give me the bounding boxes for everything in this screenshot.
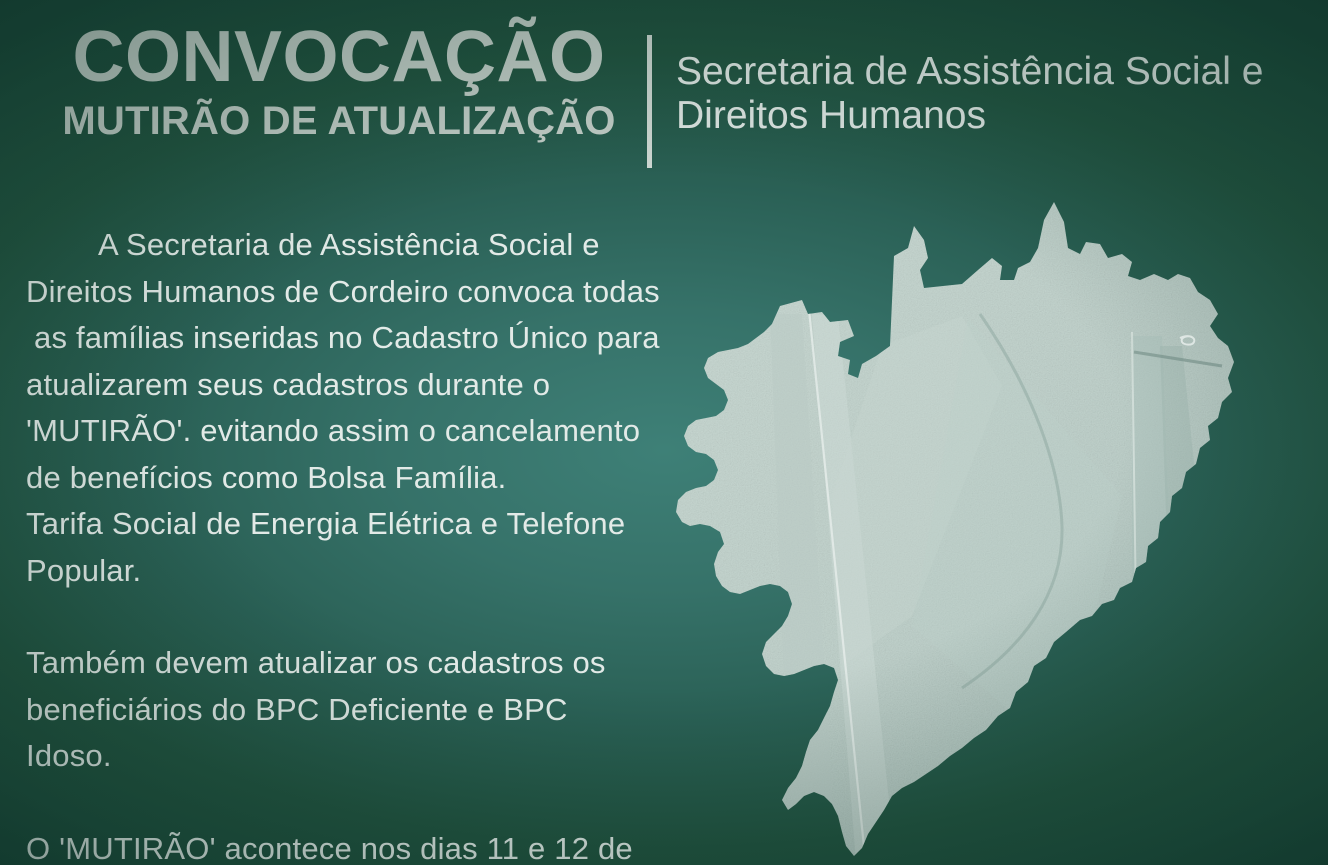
- paragraph-bpc: Também devem atualizar os cadastros os b…: [26, 640, 666, 780]
- poster-canvas: CONVOCAÇÃO MUTIRÃO DE ATUALIZAÇÃO Secret…: [0, 0, 1328, 865]
- poster-header: CONVOCAÇÃO MUTIRÃO DE ATUALIZAÇÃO Secret…: [0, 0, 1328, 190]
- map-body: [662, 196, 1262, 865]
- brazil-map-icon: [662, 196, 1262, 865]
- paragraph-bpc-line-2: beneficiários do BPC Deficiente e BPC: [26, 687, 666, 734]
- paragraph-bpc-line-3: Idoso.: [26, 733, 666, 780]
- header-divider: [647, 35, 652, 168]
- paragraph-schedule-line-1: O 'MUTIRÃO' acontece nos dias 11 e 12 de: [26, 826, 666, 865]
- paragraph-intro-line-6: de benefícios como Bolsa Família.: [26, 455, 666, 502]
- paragraph-intro-line-7: Tarifa Social de Energia Elétrica e Tele…: [26, 501, 666, 548]
- title-block: CONVOCAÇÃO MUTIRÃO DE ATUALIZAÇÃO: [44, 18, 634, 144]
- announcement-body: A Secretaria de Assistência Social e Dir…: [26, 222, 666, 865]
- paragraph-schedule: O 'MUTIRÃO' acontece nos dias 11 e 12 de…: [26, 826, 666, 865]
- paragraph-spacer-1: [26, 594, 666, 640]
- paragraph-intro-line-5: 'MUTIRÃO'. evitando assim o cancelamento: [26, 408, 666, 455]
- paragraph-bpc-line-1: Também devem atualizar os cadastros os: [26, 640, 666, 687]
- paragraph-intro-line-1: A Secretaria de Assistência Social e: [26, 222, 666, 269]
- page-subtitle: MUTIRÃO DE ATUALIZAÇÃO: [44, 98, 634, 144]
- page-title: CONVOCAÇÃO: [44, 18, 634, 96]
- paragraph-intro-line-4: atualizarem seus cadastros durante o: [26, 362, 666, 409]
- paragraph-intro: A Secretaria de Assistência Social e Dir…: [26, 222, 666, 594]
- organization-name: Secretaria de Assistência Social e Direi…: [676, 50, 1296, 138]
- paragraph-intro-line-2: Direitos Humanos de Cordeiro convoca tod…: [26, 269, 666, 316]
- organization-name-line-1: Secretaria de Assistência Social e: [676, 50, 1296, 94]
- paragraph-intro-line-8: Popular.: [26, 548, 666, 595]
- paragraph-spacer-2: [26, 780, 666, 826]
- organization-name-line-2: Direitos Humanos: [676, 94, 1296, 138]
- brazil-map-graphic: [662, 196, 1262, 865]
- paragraph-intro-line-3: as famílias inseridas no Cadastro Único …: [26, 315, 666, 362]
